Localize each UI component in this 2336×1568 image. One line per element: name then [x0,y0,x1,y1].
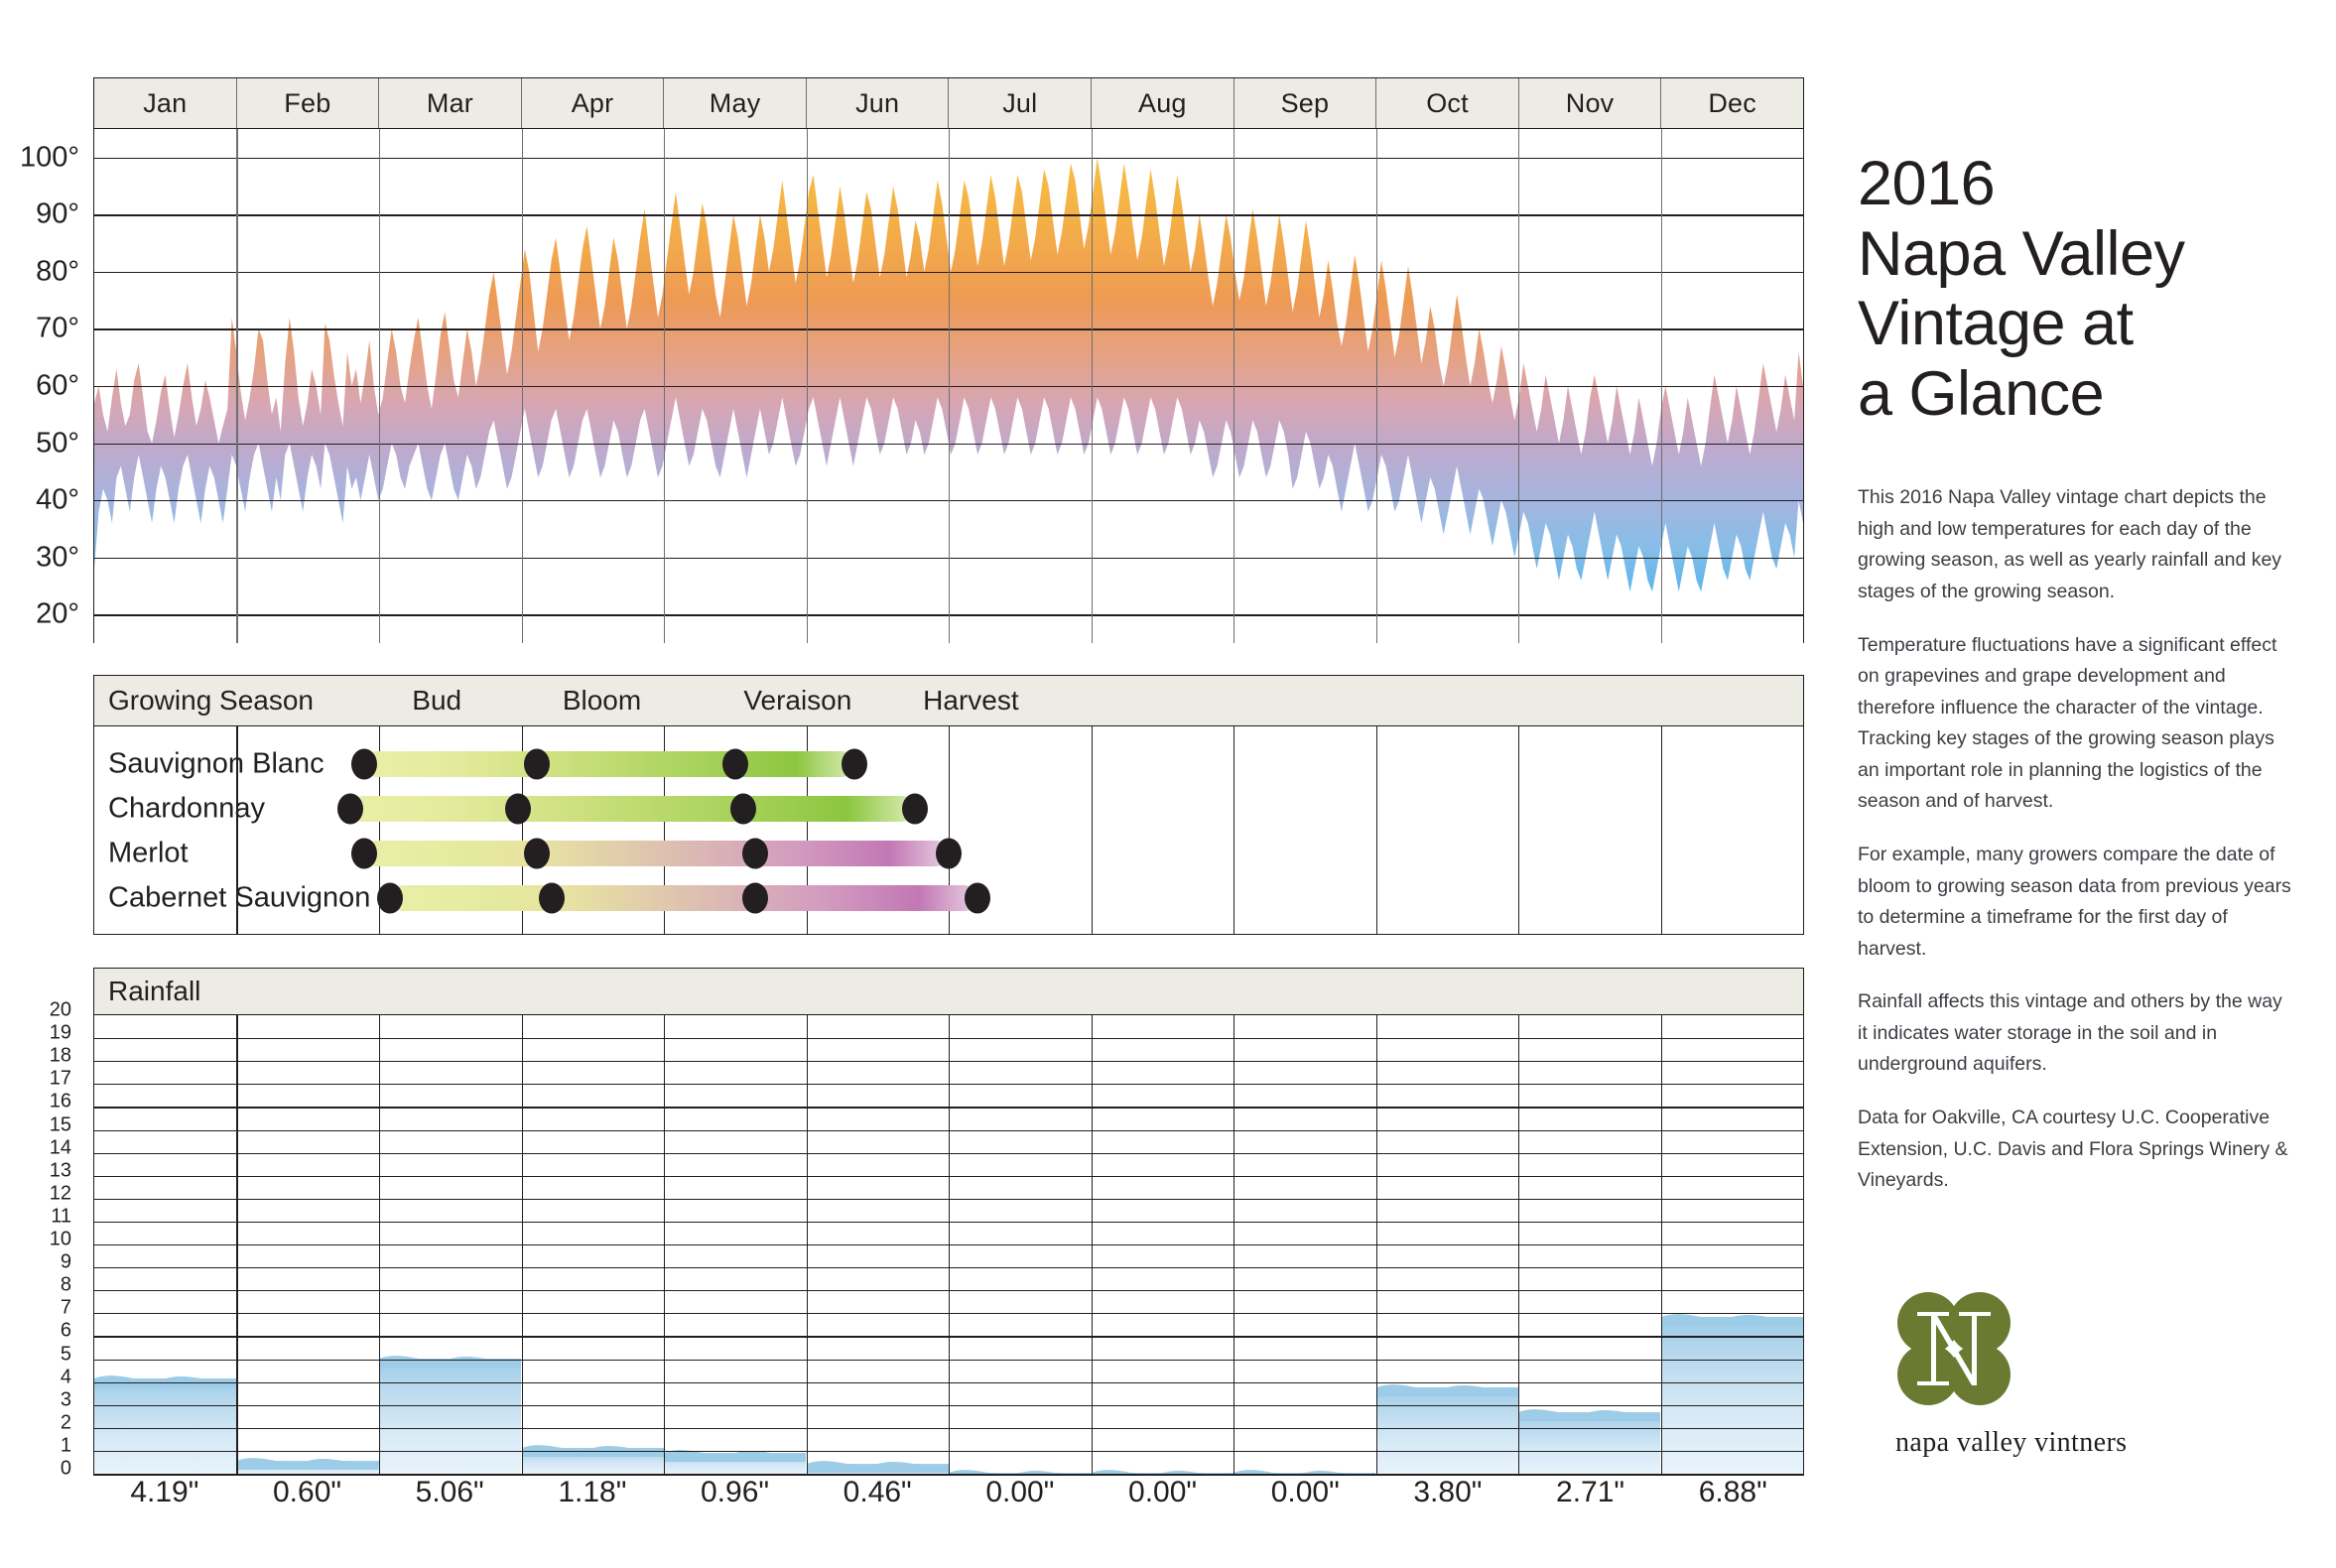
gs-duration-bar [364,751,854,777]
rainfall-plot [93,1015,1804,1476]
gs-stage-marker-bud [337,794,363,825]
gs-stage-marker-veraison [742,839,768,869]
rain-tick-5: 5 [61,1343,71,1366]
temp-tick-60: 60° [36,370,79,403]
rain-tick-18: 18 [50,1045,71,1068]
gs-duration-bar [364,841,949,866]
gs-row-cabernet-sauvignon: Cabernet Sauvignon [94,876,1803,920]
rain-value-jul: 0.00" [949,1476,1092,1531]
rain-bar-fill [379,1359,521,1475]
rain-bar-wave [236,1452,378,1470]
gs-varietal-label: Sauvignon Blanc [108,748,324,781]
gs-stage-marker-bloom [539,883,565,914]
rain-month-divider-6 [949,1015,950,1475]
stage-label-bloom: Bloom [563,685,641,717]
rain-value-apr: 1.18" [521,1476,664,1531]
gs-stage-marker-harvest [902,794,928,825]
description-text: This 2016 Napa Valley vintage chart depi… [1858,482,2294,1197]
rain-bar-fill [236,1461,378,1475]
month-header-jun: Jun [807,78,950,128]
growing-season-label: Growing Season [108,685,314,717]
rain-value-jan: 4.19" [93,1476,236,1531]
growing-season-body: Sauvignon BlancChardonnayMerlotCabernet … [93,726,1804,935]
temperature-plot [93,129,1804,643]
month-header-may: May [664,78,807,128]
gs-stage-marker-bloom [524,749,550,780]
gs-stage-marker-bud [377,883,403,914]
temp-month-divider-6 [949,129,950,643]
rain-tick-6: 6 [61,1320,71,1343]
month-header-nov: Nov [1519,78,1662,128]
temp-month-divider-8 [1233,129,1234,643]
rain-tick-1: 1 [61,1434,71,1457]
temp-month-divider-11 [1661,129,1662,643]
description-paragraph-1: This 2016 Napa Valley vintage chart depi… [1858,482,2294,607]
month-header-aug: Aug [1092,78,1234,128]
gs-stage-marker-bud [351,839,377,869]
rainfall-value-row: 4.19"0.60"5.06"1.18"0.96"0.46"0.00"0.00"… [93,1476,1804,1531]
temp-tick-80: 80° [36,255,79,288]
rain-value-feb: 0.60" [236,1476,379,1531]
temp-month-divider-7 [1092,129,1093,643]
rain-month-divider-9 [1376,1015,1377,1475]
rain-value-sep: 0.00" [1233,1476,1376,1531]
rain-month-divider-4 [664,1015,665,1475]
temp-month-divider-1 [236,129,237,643]
rain-tick-7: 7 [61,1297,71,1320]
gs-varietal-label: Chardonnay [108,793,265,826]
stage-label-harvest: Harvest [923,685,1018,717]
gs-stage-marker-harvest [842,749,867,780]
rain-tick-3: 3 [61,1388,71,1411]
month-header-dec: Dec [1661,78,1803,128]
rain-month-divider-5 [807,1015,808,1475]
growing-season-panel: Growing SeasonBudBloomVeraisonHarvest Sa… [93,675,1804,935]
rain-bar-fill [1376,1387,1518,1475]
temp-month-divider-5 [807,129,808,643]
title-line-3: Vintage at [1858,289,2294,359]
gs-row-sauvignon-blanc: Sauvignon Blanc [94,742,1803,786]
rain-month-divider-11 [1661,1015,1662,1475]
rain-bar-wave [664,1444,806,1462]
rain-month-divider-3 [522,1015,523,1475]
rain-value-nov: 2.71" [1519,1476,1662,1531]
napa-valley-vintners-logo: napa valley vintners [1895,1290,2233,1459]
page-title: 2016 Napa Valley Vintage at a Glance [1858,149,2294,429]
gs-varietal-label: Cabernet Sauvignon [108,882,370,915]
rain-tick-2: 2 [61,1411,71,1434]
temp-tick-40: 40° [36,484,79,517]
rain-bar-wave [522,1439,664,1457]
temperature-y-axis: 100°90°80°70°60°50°40°30°20° [0,77,93,695]
right-column: 2016 Napa Valley Vintage at a Glance Thi… [1858,149,2294,1219]
rain-tick-10: 10 [50,1229,71,1251]
gs-stage-marker-veraison [742,883,768,914]
gs-stage-marker-veraison [722,749,748,780]
temp-month-divider-2 [379,129,380,643]
rain-month-divider-8 [1233,1015,1234,1475]
rain-tick-9: 9 [61,1251,71,1274]
title-line-2: Napa Valley [1858,219,2294,290]
logo-svg [1895,1290,2012,1407]
month-header-oct: Oct [1376,78,1519,128]
temp-tick-100: 100° [20,141,79,174]
gs-stage-marker-veraison [730,794,756,825]
rain-value-may: 0.96" [664,1476,807,1531]
rain-bar-wave [1661,1308,1803,1326]
month-header-feb: Feb [237,78,380,128]
infographic-root: 100°90°80°70°60°50°40°30°20° JanFebMarAp… [0,0,2336,1568]
description-paragraph-5: Data for Oakville, CA courtesy U.C. Coop… [1858,1103,2294,1197]
temperature-panel: JanFebMarAprMayJunJulAugSepOctNovDec [93,77,1804,643]
temp-tick-90: 90° [36,198,79,231]
rain-value-aug: 0.00" [1092,1476,1234,1531]
gs-duration-bar [390,885,977,911]
rain-value-dec: 6.88" [1661,1476,1804,1531]
gs-stage-marker-bud [351,749,377,780]
rain-tick-19: 19 [50,1022,71,1045]
gs-varietal-label: Merlot [108,838,189,870]
rain-tick-12: 12 [50,1182,71,1205]
rain-tick-16: 16 [50,1091,71,1113]
rain-tick-8: 8 [61,1274,71,1297]
rainfall-panel: Rainfall [93,968,1804,1476]
growing-season-header: Growing SeasonBudBloomVeraisonHarvest [93,675,1804,726]
rain-bar-fill [94,1378,236,1475]
logo-wordmark: napa valley vintners [1895,1427,2233,1459]
rain-tick-4: 4 [61,1366,71,1388]
rain-bar-fill [664,1453,806,1475]
temp-month-divider-4 [664,129,665,643]
rain-month-divider-2 [379,1015,380,1475]
month-header-mar: Mar [379,78,522,128]
temp-tick-30: 30° [36,541,79,574]
rain-bar-fill [1518,1412,1660,1475]
stage-label-bud: Bud [412,685,461,717]
rain-tick-13: 13 [50,1159,71,1182]
rain-tick-17: 17 [50,1068,71,1091]
rain-bar-wave [807,1455,949,1473]
rain-tick-20: 20 [50,999,71,1022]
rain-month-divider-10 [1518,1015,1519,1475]
rain-value-mar: 5.06" [378,1476,521,1531]
temp-tick-20: 20° [36,598,79,631]
rainfall-header: Rainfall [93,968,1804,1015]
rain-month-divider-7 [1092,1015,1093,1475]
rain-bar-wave [1518,1403,1660,1421]
rainfall-y-axis: 20191817161514131211109876543210 [0,1010,87,1432]
month-header-apr: Apr [522,78,665,128]
description-paragraph-2: Temperature fluctuations have a signific… [1858,630,2294,818]
gs-stage-marker-harvest [936,839,962,869]
rainfall-label: Rainfall [108,976,200,1007]
temp-month-divider-10 [1518,129,1519,643]
description-paragraph-3: For example, many growers compare the da… [1858,840,2294,965]
gs-row-chardonnay: Chardonnay [94,787,1803,831]
rain-value-jun: 0.46" [806,1476,949,1531]
gs-row-merlot: Merlot [94,832,1803,875]
month-header-jul: Jul [949,78,1092,128]
temp-month-divider-9 [1376,129,1377,643]
description-paragraph-4: Rainfall affects this vintage and others… [1858,986,2294,1081]
temp-month-divider-3 [522,129,523,643]
rain-tick-0: 0 [61,1458,71,1481]
clover-n-logo-icon [1895,1290,2012,1407]
rain-value-oct: 3.80" [1376,1476,1519,1531]
title-line-1: 2016 [1858,149,2294,219]
month-header-row: JanFebMarAprMayJunJulAugSepOctNovDec [93,77,1804,129]
rain-month-divider-1 [236,1015,237,1475]
rain-tick-14: 14 [50,1136,71,1159]
gs-stage-marker-bloom [505,794,531,825]
rain-tick-15: 15 [50,1113,71,1136]
stage-label-veraison: Veraison [743,685,851,717]
temp-tick-50: 50° [36,427,79,459]
rain-tick-11: 11 [51,1205,71,1228]
gs-stage-marker-harvest [965,883,990,914]
title-line-4: a Glance [1858,359,2294,430]
month-header-jan: Jan [94,78,237,128]
gs-stage-marker-bloom [524,839,550,869]
gs-duration-bar [350,796,914,822]
month-header-sep: Sep [1234,78,1377,128]
rain-bar-wave [94,1370,236,1387]
temp-tick-70: 70° [36,313,79,345]
